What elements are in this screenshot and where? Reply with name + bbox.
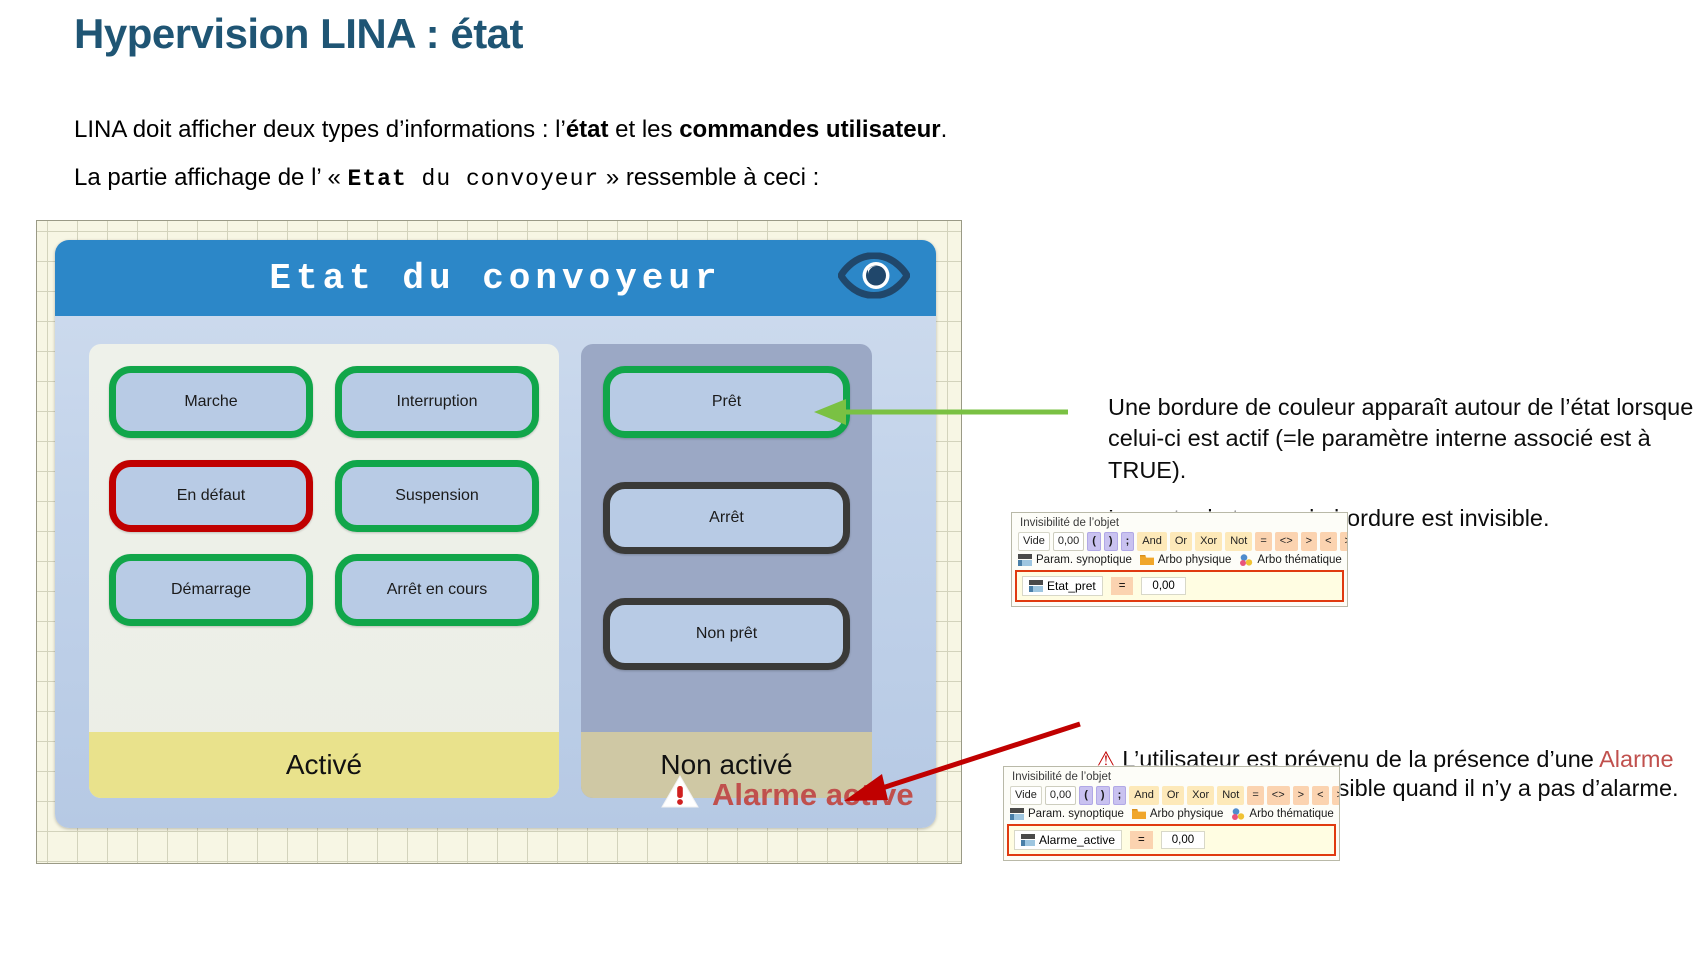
chip-greater[interactable]: > [1301, 532, 1317, 551]
state-button-label: Arrêt [709, 509, 744, 527]
expression-row-highlighted: Alarme_active = 0,00 [1007, 824, 1336, 856]
tab-label: Arbo physique [1158, 554, 1232, 566]
state-button-label: Suspension [395, 487, 479, 505]
state-button-label: Interruption [397, 393, 478, 411]
intro-1-suffix: . [941, 116, 948, 143]
shapes-icon [1231, 808, 1245, 820]
tab-arbo-physique[interactable]: Arbo physique [1140, 554, 1232, 566]
hmi-panel-header: Etat du convoyeur [55, 240, 936, 316]
state-button-arret-en-cours[interactable]: Arrêt en cours [335, 554, 539, 626]
tab-arbo-thematique[interactable]: Arbo thématique [1231, 808, 1333, 820]
shapes-icon [1239, 554, 1253, 566]
dialog-header: Invisibilité de l’objet [1004, 767, 1339, 785]
param-table-icon [1010, 808, 1024, 820]
state-button-suspension[interactable]: Suspension [335, 460, 539, 532]
tab-label: Arbo thématique [1249, 808, 1333, 820]
intro-2-mono-rest: du convoyeur [407, 166, 599, 192]
folder-icon [1140, 554, 1154, 566]
tab-label: Arbo thématique [1257, 554, 1341, 566]
hmi-left-column: Marche Interruption En défaut Suspension… [89, 344, 559, 798]
chip-and[interactable]: And [1129, 786, 1159, 805]
intro-1-middle: et les [609, 116, 680, 143]
hmi-header-title: Etat du convoyeur [269, 258, 721, 299]
dialog-header: Invisibilité de l’objet [1012, 513, 1347, 531]
left-button-grid: Marche Interruption En défaut Suspension… [109, 366, 539, 626]
tab-arbo-physique[interactable]: Arbo physique [1132, 808, 1224, 820]
intro-1-bold-etat: état [566, 116, 609, 143]
hmi-panel: Etat du convoyeur Marche Interruption En… [55, 240, 936, 828]
expression-parameter[interactable]: Etat_pret [1022, 576, 1103, 596]
dialog-toolbar: Vide 0,00 ( ) ; And Or Xor Not = <> > < … [1004, 785, 1339, 806]
chip-or[interactable]: Or [1162, 786, 1184, 805]
chip-value[interactable]: 0,00 [1053, 532, 1084, 551]
tab-label: Param. synoptique [1028, 808, 1124, 820]
left-footer-label: Activé [286, 749, 362, 781]
chip-greater-2[interactable]: > [1340, 532, 1348, 551]
intro-2-mono-etat: Etat [348, 166, 407, 192]
state-button-label: Arrêt en cours [387, 581, 487, 599]
state-button-label: Démarrage [171, 581, 251, 599]
left-button-area: Marche Interruption En défaut Suspension… [89, 344, 559, 732]
chip-xor[interactable]: Xor [1187, 786, 1214, 805]
expression-row-highlighted: Etat_pret = 0,00 [1015, 570, 1344, 602]
state-button-label: Prêt [712, 393, 741, 411]
chip-equals[interactable]: = [1247, 786, 1263, 805]
expression-parameter[interactable]: Alarme_active [1014, 830, 1122, 850]
tab-label: Param. synoptique [1036, 554, 1132, 566]
expression-operator[interactable]: = [1130, 831, 1153, 849]
page-title: Hypervision LINA : état [74, 10, 523, 58]
state-button-label: Marche [184, 393, 237, 411]
visio-canvas: Etat du convoyeur Marche Interruption En… [36, 220, 962, 864]
chip-open-paren[interactable]: ( [1079, 786, 1093, 805]
intro-2-suffix: » ressemble à ceci : [599, 164, 819, 191]
tab-param-synoptique[interactable]: Param. synoptique [1018, 554, 1132, 566]
param-table-icon [1029, 580, 1043, 592]
dialog-source-tabs: Param. synoptique Arbo physique Arbo thé… [1004, 806, 1339, 823]
state-button-arret[interactable]: Arrêt [603, 482, 850, 554]
tab-label: Arbo physique [1150, 808, 1224, 820]
chip-xor[interactable]: Xor [1195, 532, 1222, 551]
tab-param-synoptique[interactable]: Param. synoptique [1010, 808, 1124, 820]
left-footer-band: Activé [89, 732, 559, 798]
state-button-demarrage[interactable]: Démarrage [109, 554, 313, 626]
state-button-non-pret[interactable]: Non prêt [603, 598, 850, 670]
expression-parameter-name: Alarme_active [1039, 833, 1115, 847]
state-button-marche[interactable]: Marche [109, 366, 313, 438]
folder-icon [1132, 808, 1146, 820]
dialog-invisibilite-alarme-active: Invisibilité de l’objet Vide 0,00 ( ) ; … [1003, 766, 1340, 861]
chip-and[interactable]: And [1137, 532, 1167, 551]
state-button-en-defaut[interactable]: En défaut [109, 460, 313, 532]
chip-close-paren[interactable]: ) [1096, 786, 1110, 805]
dialog-invisibilite-etat-pret: Invisibilité de l’objet Vide 0,00 ( ) ; … [1011, 512, 1348, 607]
annotation-note-1: Une bordure de couleur apparaît autour d… [1108, 392, 1707, 486]
tab-arbo-thematique[interactable]: Arbo thématique [1239, 554, 1341, 566]
chip-not[interactable]: Not [1217, 786, 1244, 805]
chip-greater[interactable]: > [1293, 786, 1309, 805]
chip-close-paren[interactable]: ) [1104, 532, 1118, 551]
state-button-label: En défaut [177, 487, 246, 505]
chip-semicolon[interactable]: ; [1113, 786, 1127, 805]
chip-less[interactable]: < [1312, 786, 1328, 805]
green-arrow [810, 392, 1075, 432]
dialog-source-tabs: Param. synoptique Arbo physique Arbo thé… [1012, 552, 1347, 569]
intro-1-prefix: LINA doit afficher deux types d’informat… [74, 116, 566, 143]
param-table-icon [1018, 554, 1032, 566]
warning-triangle-icon [660, 774, 700, 815]
chip-or[interactable]: Or [1170, 532, 1192, 551]
state-button-interruption[interactable]: Interruption [335, 366, 539, 438]
intro-paragraph-2: La partie affichage de l’ « Etat du conv… [74, 164, 819, 192]
expression-parameter-name: Etat_pret [1047, 579, 1096, 593]
eye-icon[interactable] [838, 253, 910, 304]
chip-not[interactable]: Not [1225, 532, 1252, 551]
expression-value[interactable]: 0,00 [1141, 577, 1185, 595]
expression-operator[interactable]: = [1111, 577, 1134, 595]
chip-greater-2[interactable]: > [1332, 786, 1340, 805]
chip-open-paren[interactable]: ( [1087, 532, 1101, 551]
hmi-columns: Marche Interruption En défaut Suspension… [55, 316, 936, 828]
state-button-label: Non prêt [696, 625, 757, 643]
chip-vide[interactable]: Vide [1018, 532, 1050, 551]
chip-not-equals[interactable]: <> [1275, 532, 1298, 551]
chip-not-equals[interactable]: <> [1267, 786, 1290, 805]
chip-value[interactable]: 0,00 [1045, 786, 1076, 805]
intro-paragraph-1: LINA doit afficher deux types d’informat… [74, 116, 947, 144]
param-table-icon [1021, 834, 1035, 846]
chip-less[interactable]: < [1320, 532, 1336, 551]
chip-equals[interactable]: = [1255, 532, 1271, 551]
dialog-toolbar: Vide 0,00 ( ) ; And Or Xor Not = <> > < … [1012, 531, 1347, 552]
chip-vide[interactable]: Vide [1010, 786, 1042, 805]
chip-semicolon[interactable]: ; [1121, 532, 1135, 551]
expression-value[interactable]: 0,00 [1161, 831, 1205, 849]
intro-2-prefix: La partie affichage de l’ « [74, 164, 348, 191]
intro-1-bold-commandes: commandes utilisateur [679, 116, 940, 143]
